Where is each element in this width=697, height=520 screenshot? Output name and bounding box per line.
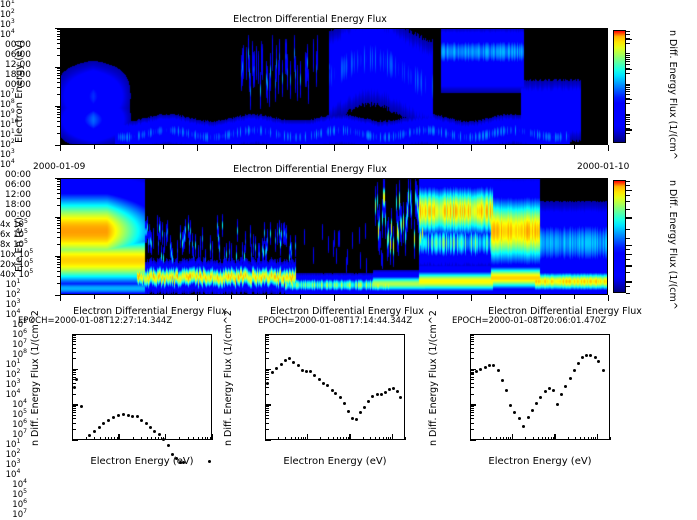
data-point: [145, 422, 148, 425]
x-tick-label: 101: [0, 280, 26, 290]
panel-2-colorbar: [613, 180, 626, 293]
spectrum-1-epoch: EPOCH=2000-01-08T12:27:14.344Z: [18, 316, 172, 326]
spectrum-3-epoch: EPOCH=2000-01-08T20:06:01.470Z: [452, 316, 606, 326]
panel-2-title: Electron Differential Energy Flux: [0, 164, 620, 175]
data-point: [581, 356, 584, 359]
x-tick-label: 102: [0, 450, 26, 460]
y-tick-label: 108: [0, 350, 27, 360]
data-point: [577, 362, 580, 365]
data-point: [112, 416, 115, 419]
y-tick-label: 107: [0, 510, 27, 520]
data-point: [488, 364, 491, 367]
spectrum-2-ylabel: n Diff. Energy Flux (1/(cm^2: [223, 310, 234, 446]
spectrum-2-plot: [265, 334, 405, 440]
data-point: [339, 396, 342, 399]
panel-2-colorbar-label: n Diff. Energy Flux (1/(cm^: [667, 180, 678, 310]
x-tick-label: 101: [0, 440, 26, 450]
x-tick-label: 102: [0, 290, 26, 300]
spectrum-3-ylabel: n Diff. Energy Flux (1/(cm^2: [428, 310, 439, 446]
data-point: [501, 379, 504, 382]
data-point: [380, 393, 383, 396]
panel-1-title: Electron Differential Energy Flux: [0, 14, 620, 25]
data-point: [167, 444, 170, 447]
spectrum-2-xlabel: Electron Energy (eV): [245, 456, 425, 467]
data-point: [355, 418, 358, 421]
data-point: [280, 363, 283, 366]
y-tick-label: 107: [0, 430, 27, 440]
data-point: [569, 377, 572, 380]
data-point: [140, 419, 143, 422]
data-point: [347, 410, 350, 413]
x-tick-label: 101: [0, 360, 26, 370]
x-tick-label: 103: [0, 460, 26, 470]
panel-2-ylabel: Ele En (eV): [14, 217, 25, 272]
data-point: [388, 388, 391, 391]
data-point: [531, 409, 534, 412]
data-point: [322, 382, 325, 385]
data-point: [396, 390, 399, 393]
spectrum-3-xlabel: Electron Energy (eV): [450, 456, 630, 467]
data-point: [149, 426, 152, 429]
spectrum-3-plot: [470, 334, 610, 440]
data-point: [331, 389, 334, 392]
data-point: [343, 402, 346, 405]
panel-2-frame: [60, 178, 608, 295]
data-point: [518, 417, 521, 420]
spectrum-1-plot: [72, 334, 212, 440]
data-point: [363, 406, 366, 409]
panel-1-frame: [60, 28, 608, 145]
data-point: [505, 389, 508, 392]
panel-1-colorbar: [613, 30, 626, 143]
data-point: [127, 414, 130, 417]
x-tick-label: 102: [0, 370, 26, 380]
panel-1-colorbar-label: n Diff. Energy Flux (1/(cm^: [667, 30, 678, 160]
data-point: [535, 402, 538, 405]
x-tick-label: 103: [0, 380, 26, 390]
spectra-row: Electron Differential Energy FluxEPOCH=2…: [0, 280, 697, 520]
spectrum-1-ylabel: n Diff. Energy Flux (1/(cm^2: [30, 310, 41, 446]
panel-1-ylabel: Electron Energy (eV): [14, 40, 25, 143]
spectrum-2-epoch: EPOCH=2000-01-08T17:14:44.344Z: [258, 316, 412, 326]
data-point: [484, 366, 487, 369]
data-point: [552, 389, 555, 392]
data-point: [122, 413, 125, 416]
spectrum-1-xlabel: Electron Energy (eV): [52, 456, 232, 467]
